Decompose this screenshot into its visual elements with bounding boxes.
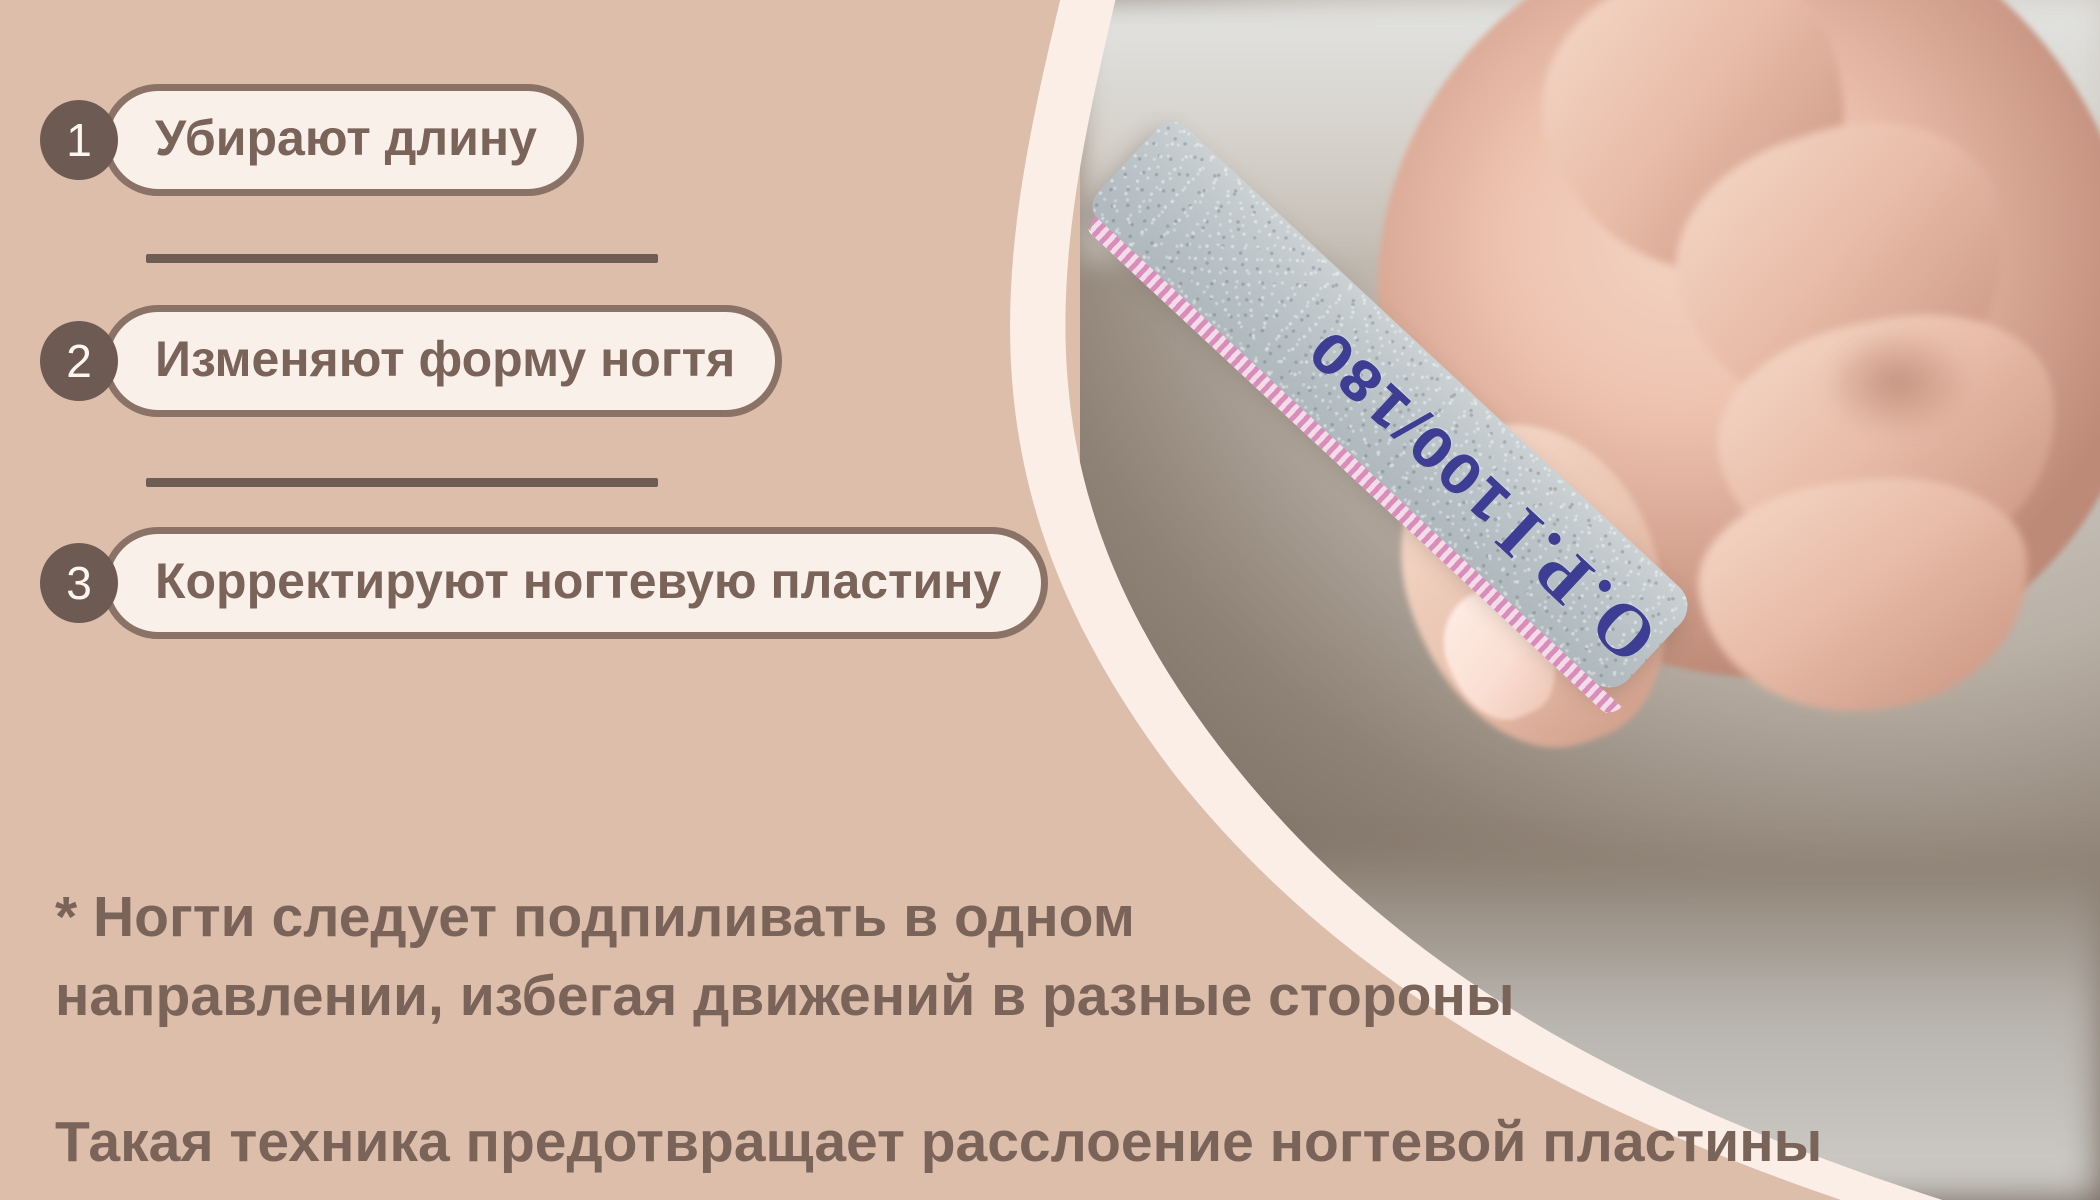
step-item-2[interactable]: 2 Изменяют форму ногтя bbox=[40, 305, 782, 417]
slide-canvas: 100/180 O.P.I 1 Убирают длину 2 Изменяют… bbox=[0, 0, 2100, 1200]
step-label-pill-3: Корректируют ногтевую пластину bbox=[102, 527, 1048, 639]
step-number-badge-2: 2 bbox=[40, 321, 118, 401]
footnote-line-1: * Ногти следует подпиливать в одном bbox=[55, 880, 1815, 955]
step-label-pill-1: Убирают длину bbox=[102, 84, 584, 196]
footnote-block: * Ногти следует подпиливать в одном напр… bbox=[55, 880, 1815, 1034]
step-item-3[interactable]: 3 Корректируют ногтевую пластину bbox=[40, 527, 1048, 639]
footnote-line-3-block: Такая техника предотвращает расслоение н… bbox=[55, 1105, 2055, 1179]
step-number-badge-3: 3 bbox=[40, 543, 118, 623]
step-item-1[interactable]: 1 Убирают длину bbox=[40, 84, 584, 196]
step-divider-2 bbox=[146, 478, 658, 487]
step-divider-1 bbox=[146, 254, 658, 263]
footnote-line-2: направлении, избегая движений в разные с… bbox=[55, 959, 1815, 1034]
step-number-badge-1: 1 bbox=[40, 100, 118, 180]
footnote-line-3: Такая техника предотвращает расслоение н… bbox=[55, 1105, 2055, 1179]
step-label-pill-2: Изменяют форму ногтя bbox=[102, 305, 782, 417]
